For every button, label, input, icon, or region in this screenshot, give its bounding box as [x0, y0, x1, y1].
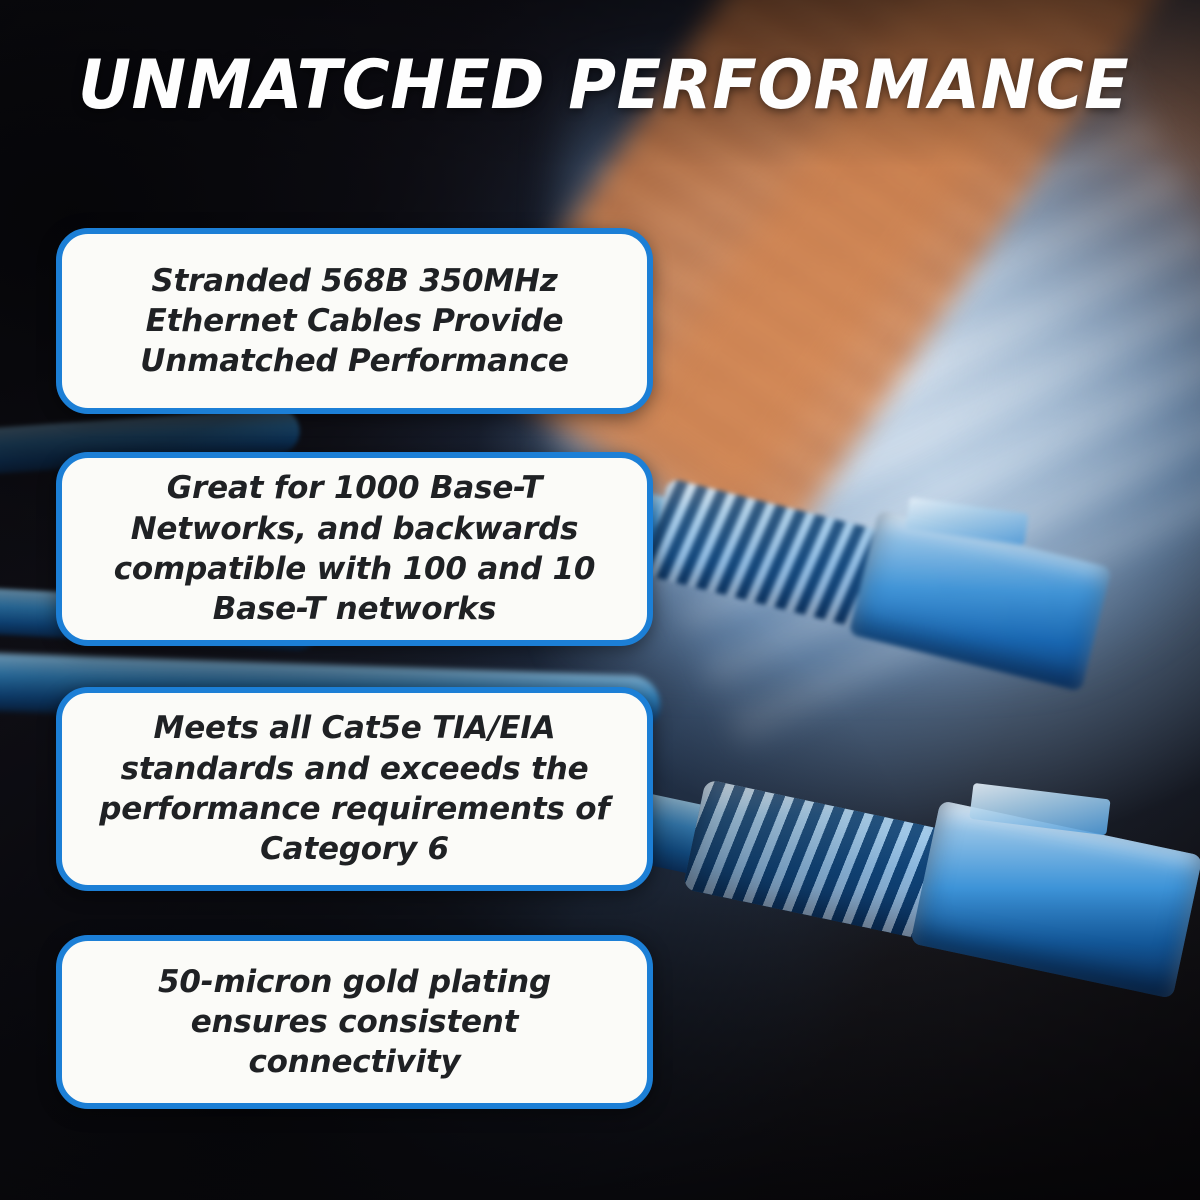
feature-card-standards-text: Meets all Cat5e TIA/EIA standards and ex…	[62, 708, 647, 869]
feature-card-gold-plating-text: 50-micron gold plating ensures consisten…	[62, 962, 647, 1083]
feature-card-gold-plating: 50-micron gold plating ensures consisten…	[56, 935, 653, 1109]
feature-card-performance: Stranded 568B 350MHz Ethernet Cables Pro…	[56, 228, 653, 414]
feature-card-standards: Meets all Cat5e TIA/EIA standards and ex…	[56, 687, 653, 891]
page-title: UNMATCHED PERFORMANCE	[78, 52, 1105, 120]
feature-card-networks-text: Great for 1000 Base-T Networks, and back…	[62, 468, 647, 629]
feature-card-networks: Great for 1000 Base-T Networks, and back…	[56, 452, 653, 646]
feature-card-performance-text: Stranded 568B 350MHz Ethernet Cables Pro…	[62, 261, 647, 382]
infographic-canvas: UNMATCHED PERFORMANCE Stranded 568B 350M…	[0, 0, 1200, 1200]
